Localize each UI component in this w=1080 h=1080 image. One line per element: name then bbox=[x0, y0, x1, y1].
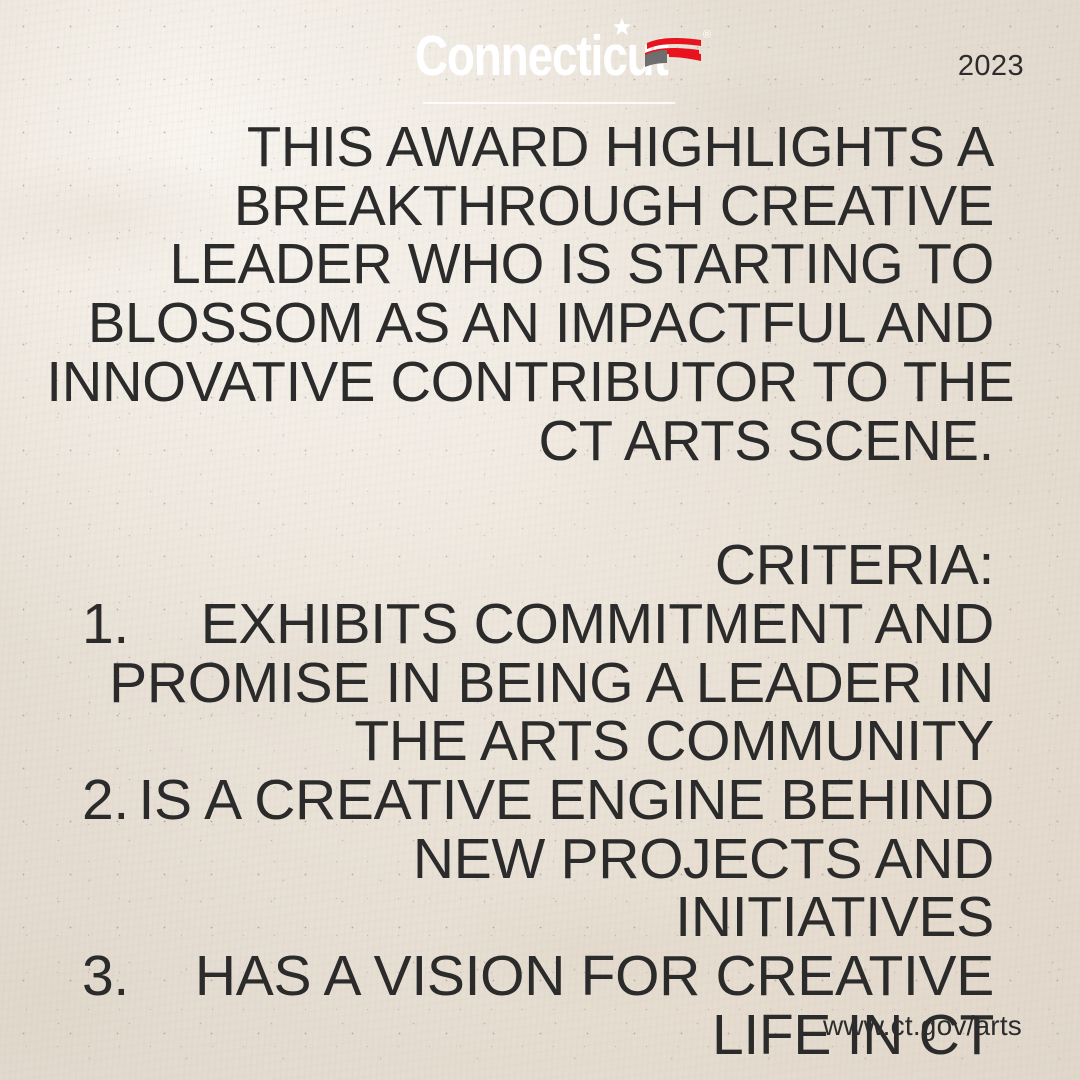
flag-swoosh-icon bbox=[643, 36, 705, 72]
list-item: 3. HAS A VISION FOR CREATIVE LIFE IN CT bbox=[32, 947, 994, 1064]
criteria-section: CRITERIA: 1. EXHIBITS COMMITMENT AND PRO… bbox=[32, 536, 994, 1064]
year-label: 2023 bbox=[958, 52, 1024, 81]
criteria-item-line: IS A CREATIVE ENGINE BEHIND bbox=[32, 771, 994, 830]
headline-line: CT ARTS SCENE. bbox=[46, 412, 994, 471]
criteria-item-number: 3. bbox=[82, 947, 129, 1006]
headline-line: LEADER WHO IS STARTING TO bbox=[46, 235, 994, 294]
list-item: 2. IS A CREATIVE ENGINE BEHIND NEW PROJE… bbox=[32, 771, 994, 947]
website-url-link[interactable]: www.ct.gov/arts bbox=[823, 1012, 1022, 1040]
connecticut-wordmark: Connecticut bbox=[415, 28, 668, 85]
award-description-heading: THIS AWARD HIGHLIGHTS A BREAKTHROUGH CRE… bbox=[46, 118, 994, 470]
criteria-item-line: EXHIBITS COMMITMENT AND bbox=[32, 595, 994, 654]
poster-body: THIS AWARD HIGHLIGHTS A BREAKTHROUGH CRE… bbox=[32, 118, 994, 1065]
headline-line: INNOVATIVE CONTRIBUTOR TO THE bbox=[46, 353, 994, 412]
logo-underline-rule bbox=[423, 102, 675, 104]
criteria-item-number: 1. bbox=[82, 595, 129, 654]
registered-trademark-mark: ® bbox=[703, 30, 711, 41]
criteria-item-line: NEW PROJECTS AND bbox=[32, 830, 994, 889]
connecticut-logo: Connecticut ® bbox=[415, 16, 700, 111]
criteria-item-line: PROMISE IN BEING A LEADER IN bbox=[32, 654, 994, 713]
list-item: 1. EXHIBITS COMMITMENT AND PROMISE IN BE… bbox=[32, 595, 994, 771]
poster-header: Connecticut ® 2023 bbox=[0, 0, 1080, 112]
headline-line: BREAKTHROUGH CREATIVE bbox=[46, 177, 994, 236]
headline-line: THIS AWARD HIGHLIGHTS A bbox=[46, 118, 994, 177]
criteria-item-line: INITIATIVES bbox=[32, 888, 994, 947]
poster-canvas: Connecticut ® 2023 THIS AWARD HIGHL bbox=[0, 0, 1080, 1080]
criteria-item-line: THE ARTS COMMUNITY bbox=[32, 712, 994, 771]
criteria-title: CRITERIA: bbox=[32, 536, 994, 595]
criteria-item-line: HAS A VISION FOR CREATIVE bbox=[32, 947, 994, 1006]
headline-line: BLOSSOM AS AN IMPACTFUL AND bbox=[46, 294, 994, 353]
criteria-list: 1. EXHIBITS COMMITMENT AND PROMISE IN BE… bbox=[32, 595, 994, 1065]
star-icon bbox=[613, 18, 631, 36]
criteria-item-number: 2. bbox=[82, 771, 129, 830]
